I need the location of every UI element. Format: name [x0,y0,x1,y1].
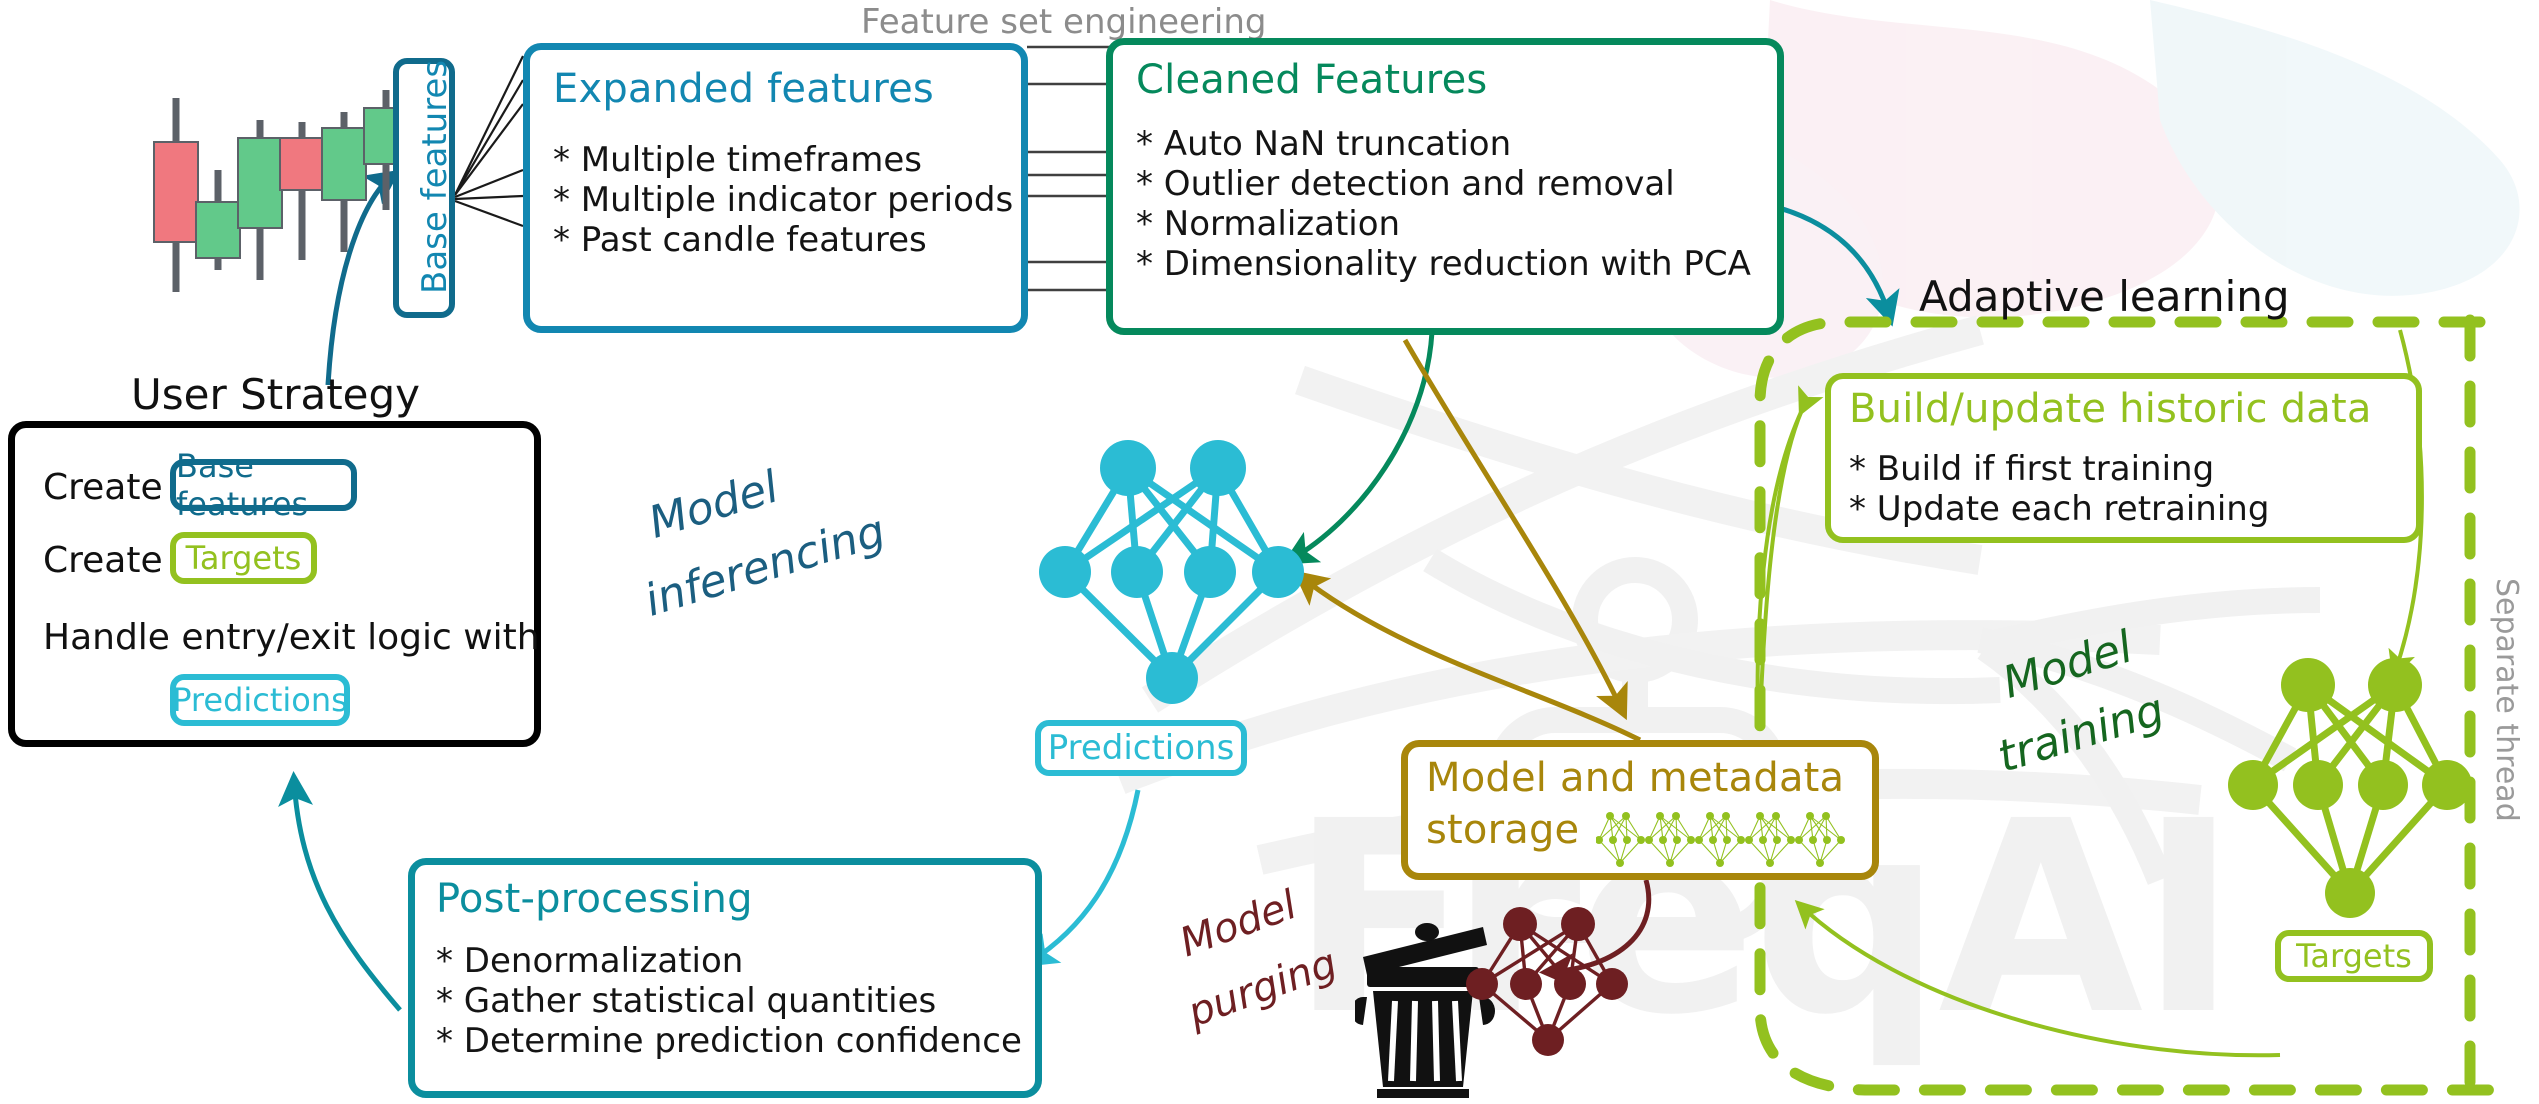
user-strategy-predictions-label: Predictions [172,681,348,719]
expanded-features-box[interactable]: Expanded features * Multiple timeframes … [523,43,1028,333]
post-processing-box[interactable]: Post-processing * Denormalization * Gath… [408,858,1042,1098]
predictions-pill-label: Predictions [1048,728,1235,768]
bullet-item: * Build if first training [1849,449,2269,489]
cleaned-features-title: Cleaned Features [1136,60,1487,100]
diagram-canvas: FreqAI [0,0,2539,1104]
user-strategy-targets-label: Targets [186,539,302,577]
user-strategy-line1-prefix: Create [43,467,163,508]
adaptive-learning-header: Adaptive learning [1919,272,2290,321]
predictions-pill[interactable]: Predictions [1035,720,1247,776]
cleaned-features-bullets: * Auto NaN truncation * Outlier detectio… [1136,124,1751,284]
neural-network-stack-icon [1596,807,1856,869]
user-strategy-predictions-pill[interactable]: Predictions [170,674,350,726]
bullet-item: * Outlier detection and removal [1136,164,1751,204]
targets-pill[interactable]: Targets [2275,930,2433,982]
bullet-item: * Update each retraining [1849,489,2269,529]
bullet-item: * Auto NaN truncation [1136,124,1751,164]
expanded-features-bullets: * Multiple timeframes * Multiple indicat… [553,140,1013,260]
model-storage-line1: Model and metadata [1426,758,1844,798]
user-strategy-line2-prefix: Create [43,540,163,581]
user-strategy-heading: User Strategy [131,370,420,419]
build-update-historic-data-box[interactable]: Build/update historic data * Build if fi… [1825,373,2422,543]
feature-set-engineering-header: Feature set engineering [861,2,1267,42]
neural-network-icon-cyan [1020,420,1320,720]
build-update-title: Build/update historic data [1849,389,2372,429]
bullet-item: * Determine prediction confidence [436,1021,1022,1061]
bullet-item: * Denormalization [436,941,1022,981]
base-features-pill[interactable]: Base features [393,58,455,318]
post-processing-bullets: * Denormalization * Gather statistical q… [436,941,1022,1061]
bullet-item: * Gather statistical quantities [436,981,1022,1021]
bullet-item: * Multiple indicator periods [553,180,1013,220]
model-storage-line2: storage [1426,810,1579,850]
neural-network-icon-purged [1460,900,1640,1060]
cleaned-features-box[interactable]: Cleaned Features * Auto NaN truncation *… [1106,38,1784,335]
bullet-item: * Past candle features [553,220,1013,260]
neural-network-icon-olive [2215,645,2485,935]
bullet-item: * Normalization [1136,204,1751,244]
post-processing-title: Post-processing [436,879,753,919]
user-strategy-targets-pill[interactable]: Targets [170,532,317,584]
user-strategy-line3: Handle entry/exit logic with [43,617,540,658]
user-strategy-box[interactable]: Create Base features Create Targets Hand… [8,421,541,747]
bullet-item: * Dimensionality reduction with PCA [1136,244,1751,284]
base-features-pill-label: Base features [415,60,455,294]
expanded-features-title: Expanded features [553,69,934,109]
separate-thread-label: Separate thread [2489,578,2524,822]
user-strategy-base-features-label: Base features [176,447,351,523]
candlestick-chart-icon [140,80,400,310]
targets-pill-label: Targets [2296,937,2412,975]
build-update-bullets: * Build if first training * Update each … [1849,449,2269,529]
user-strategy-base-features-pill[interactable]: Base features [170,459,357,511]
bullet-item: * Multiple timeframes [553,140,1013,180]
model-storage-box[interactable]: Model and metadata storage [1401,740,1879,880]
